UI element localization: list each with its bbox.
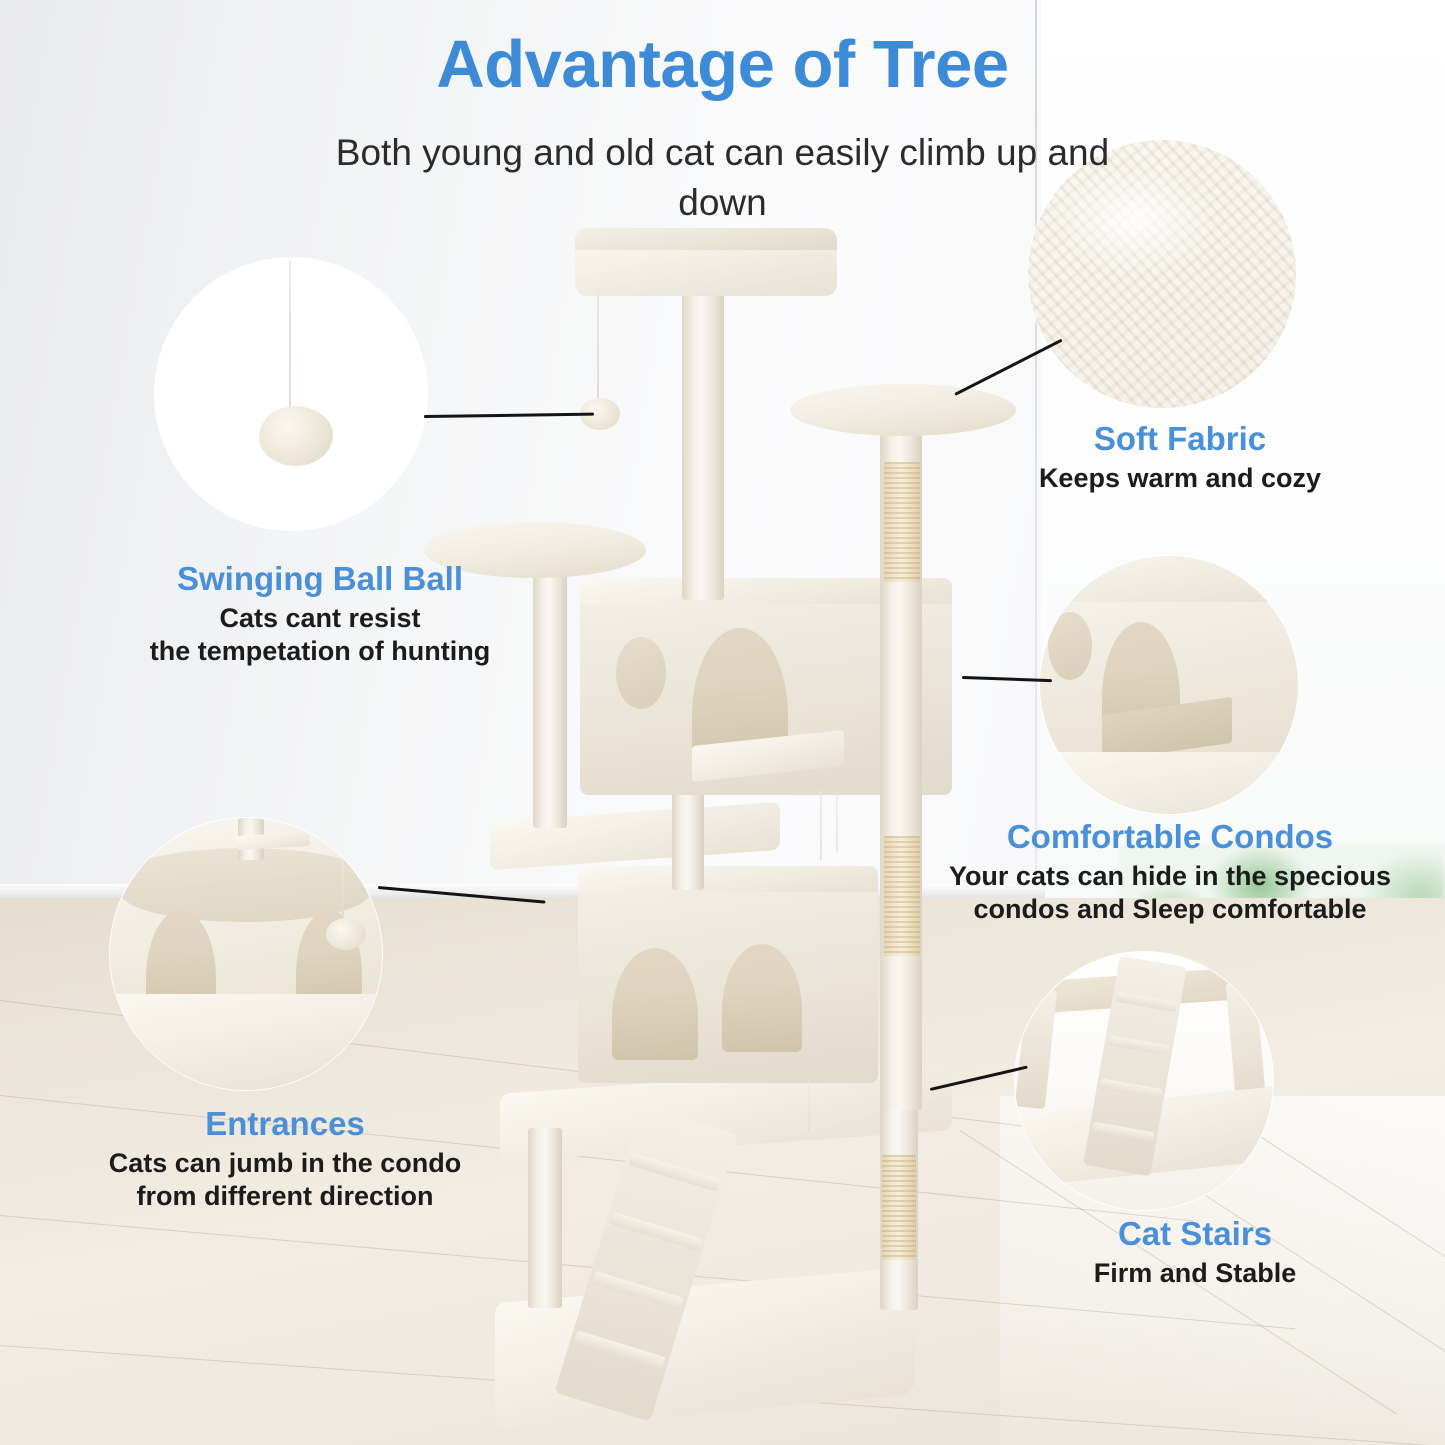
- page-title: Advantage of Tree: [0, 30, 1445, 100]
- bubble-comfortable-condos: [1040, 556, 1298, 814]
- callout-title-entrances: Entrances: [40, 1105, 530, 1144]
- cat-tree-top-perch-lip: [575, 228, 837, 250]
- label-cat-stairs: Cat Stairs Firm and Stable: [975, 1215, 1415, 1290]
- label-soft-fabric: Soft Fabric Keeps warm and cozy: [955, 420, 1405, 495]
- cat-tree-post-lower-left: [528, 1128, 562, 1308]
- bubble-entrances: [110, 818, 382, 1090]
- infographic-canvas: Swinging Ball Ball Cats cant resist the …: [0, 0, 1445, 1445]
- cat-condo-lower-roof: [578, 866, 878, 892]
- callout-desc-comfortable-condos-line1: Your cats can hide in the specious: [925, 860, 1415, 893]
- callout-title-soft-fabric: Soft Fabric: [955, 420, 1405, 459]
- sisal-scratching-wrap-lower: [882, 1155, 916, 1260]
- callout-desc-swinging-ball-line2: the tempetation of hunting: [40, 635, 600, 668]
- hanging-ball-string: [597, 288, 599, 406]
- page-subtitle: Both young and old cat can easily climb …: [300, 128, 1145, 228]
- bubble-entrances-image: [110, 818, 382, 1090]
- cat-tree-post-mid-center: [672, 790, 704, 890]
- condo-dangle-string: [808, 1080, 810, 1132]
- sisal-scratching-wrap-mid: [884, 836, 920, 956]
- cat-tree-post-top-center: [682, 290, 724, 600]
- label-swinging-ball: Swinging Ball Ball Cats cant resist the …: [40, 560, 600, 668]
- bubble-swinging-ball: [155, 258, 427, 530]
- cat-condo-upper-side-window: [616, 637, 666, 709]
- callout-desc-comfortable-condos-line2: condos and Sleep comfortable: [925, 893, 1415, 926]
- bubble-cat-stairs: [1015, 952, 1273, 1210]
- callout-title-comfortable-condos: Comfortable Condos: [925, 818, 1415, 857]
- condo-dangle-string: [836, 790, 838, 852]
- callout-desc-swinging-ball-line1: Cats cant resist: [40, 602, 600, 635]
- callout-desc-cat-stairs-line1: Firm and Stable: [975, 1257, 1415, 1290]
- callout-title-cat-stairs: Cat Stairs: [975, 1215, 1415, 1254]
- bubble-cat-stairs-image: [1015, 952, 1273, 1210]
- bubble-swinging-ball-image: [155, 258, 427, 530]
- bubble-comfortable-condos-image: [1040, 556, 1298, 814]
- label-entrances: Entrances Cats can jumb in the condo fro…: [40, 1105, 530, 1213]
- callout-desc-soft-fabric-line1: Keeps warm and cozy: [955, 462, 1405, 495]
- callout-desc-entrances-line2: from different direction: [40, 1180, 530, 1213]
- callout-desc-entrances-line1: Cats can jumb in the condo: [40, 1147, 530, 1180]
- condo-dangle-string: [820, 790, 822, 860]
- label-comfortable-condos: Comfortable Condos Your cats can hide in…: [925, 818, 1415, 926]
- sisal-scratching-wrap-upper: [884, 462, 920, 582]
- callout-title-swinging-ball: Swinging Ball Ball: [40, 560, 600, 599]
